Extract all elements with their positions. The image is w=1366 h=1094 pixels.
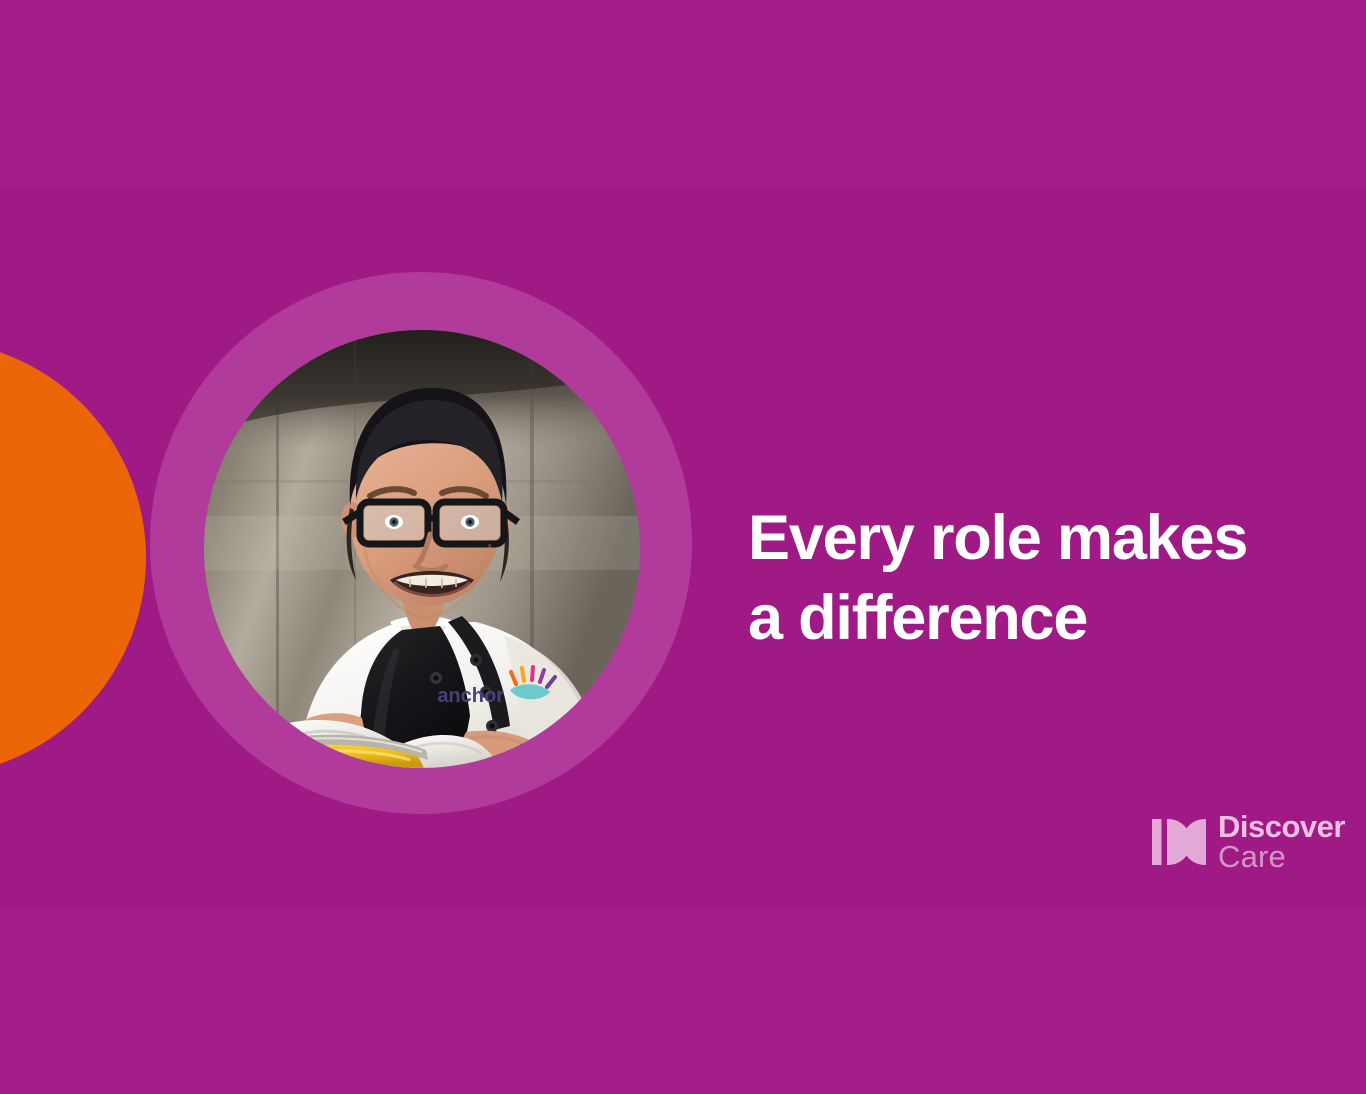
- brand-word-discover: Discover: [1218, 812, 1345, 842]
- background-band-bottom: [0, 910, 1366, 1094]
- background-band-top: [0, 0, 1366, 190]
- discover-care-logomark: [1152, 819, 1206, 865]
- brand-word-care: Care: [1218, 842, 1345, 872]
- brand-lockup: Discover Care: [1152, 812, 1345, 872]
- headline-line-2: a difference: [748, 578, 1328, 658]
- svg-text:anchor: anchor: [437, 685, 504, 707]
- brand-wordmark: Discover Care: [1218, 812, 1345, 872]
- page-title: Every role makes a difference: [748, 498, 1328, 658]
- portrait-photo: anchor: [204, 330, 640, 768]
- headline-line-1: Every role makes: [748, 498, 1328, 578]
- slide-canvas: anchor Every role makes a difference: [0, 0, 1366, 1094]
